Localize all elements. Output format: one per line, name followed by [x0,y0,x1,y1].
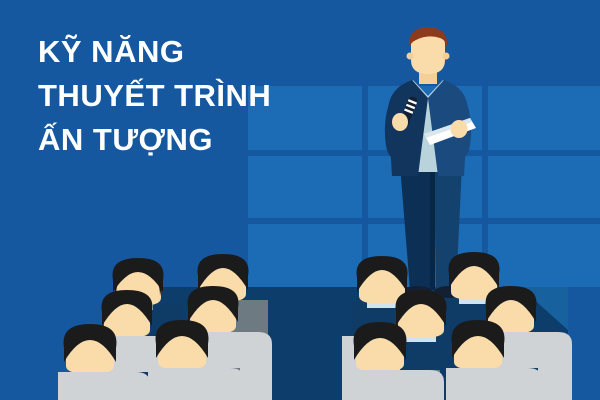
speaker-ear-left [407,53,414,60]
backdrop-panel [248,224,362,290]
backdrop-panel [248,86,362,150]
speaker-ear-right [443,53,450,60]
audience-seat-back [348,370,444,400]
speaker-hand-right [451,120,468,138]
backdrop-panel [488,156,600,218]
speaker-hand-left [392,113,408,131]
audience-seat-back [446,368,542,400]
backdrop-panel [248,156,362,218]
backdrop-panel [488,86,600,150]
poster-illustration [0,0,600,400]
presentation-skills-poster: KỸ NĂNG THUYẾT TRÌNH ẤN TƯỢNG [0,0,600,400]
audience-seat-back [58,372,150,400]
audience-seat-back [150,368,244,400]
speaker-trouser-seam [430,165,435,290]
backdrop-panel [488,224,600,290]
